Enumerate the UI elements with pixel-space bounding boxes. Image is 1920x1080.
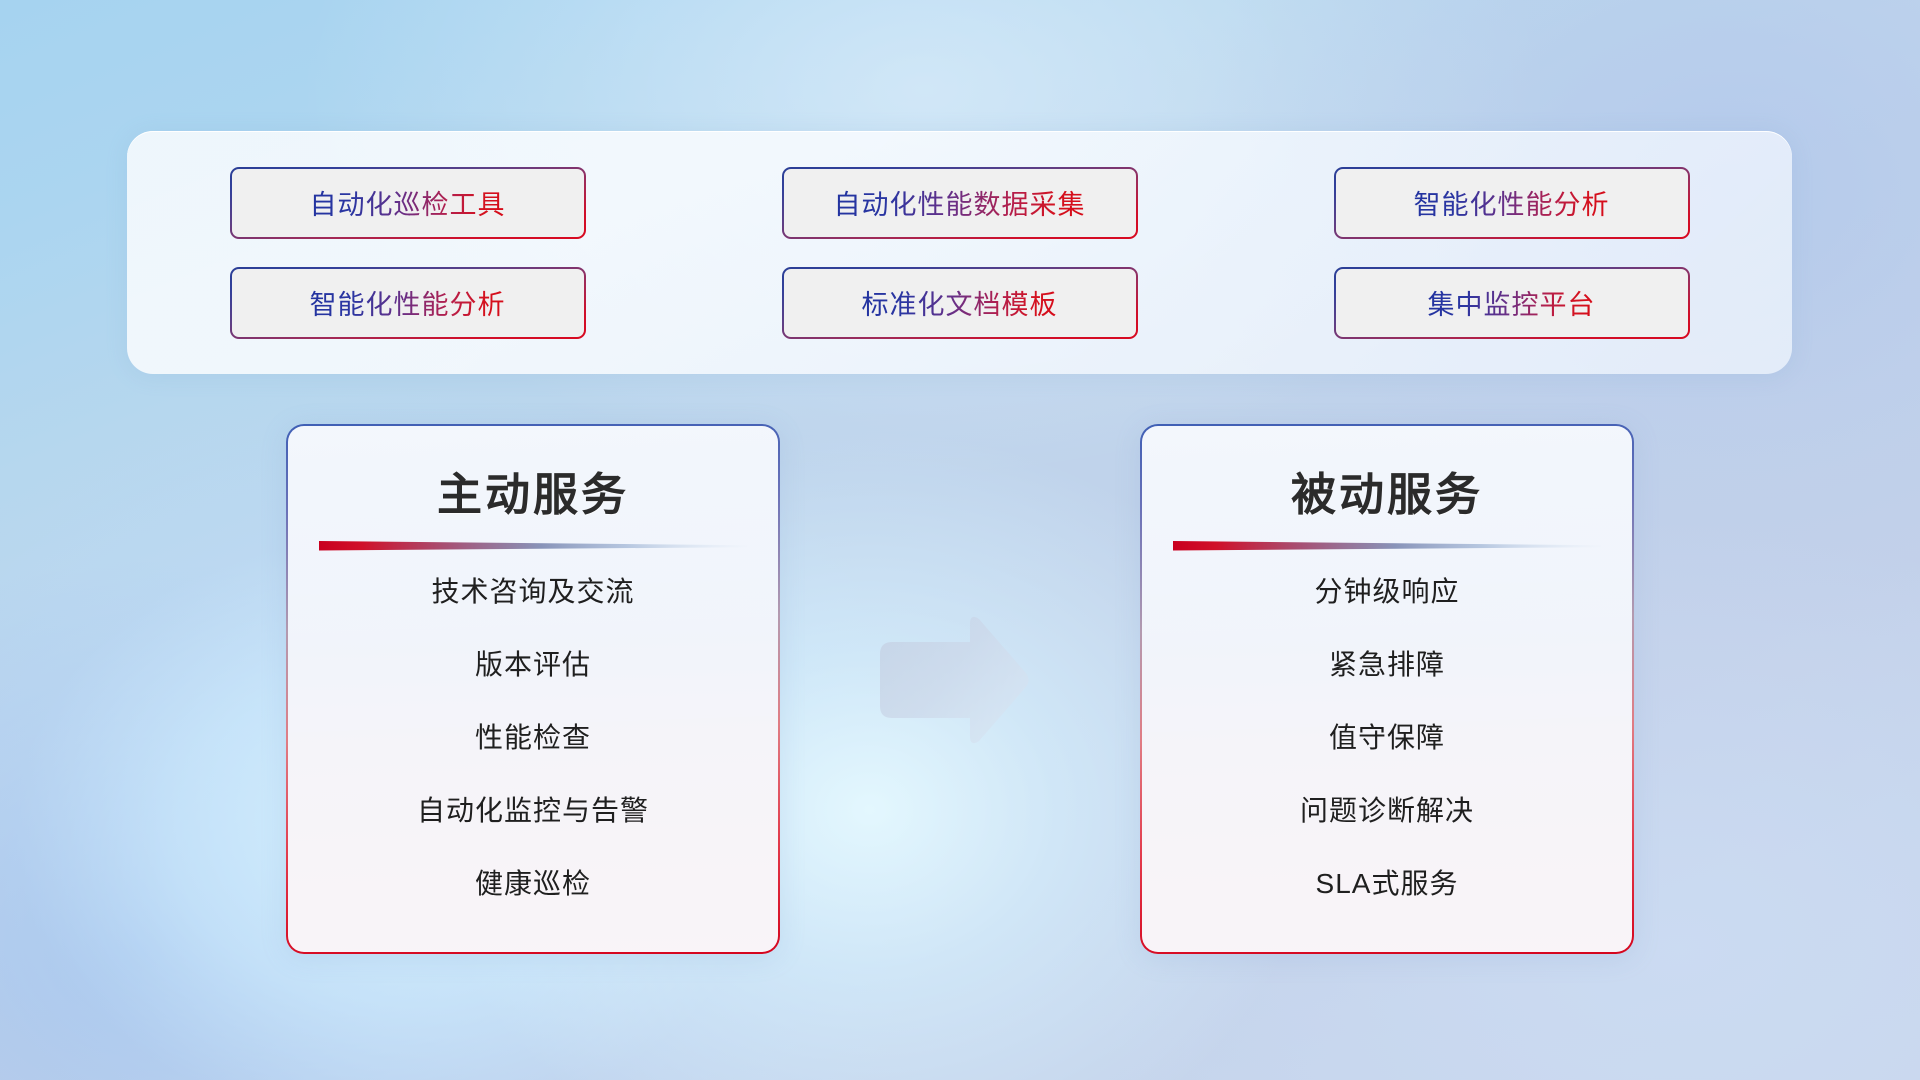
service-card-active[interactable]: 主动服务 技术咨询及交流 版本评估 <box>286 424 780 954</box>
capability-chip-body: 集中监控平台 <box>1336 269 1688 337</box>
service-card-title: 主动服务 <box>437 458 629 523</box>
capability-chip[interactable]: 智能化性能分析 <box>1334 167 1690 239</box>
capability-chip[interactable]: 智能化性能分析 <box>230 267 586 339</box>
capability-chip-body: 自动化性能数据采集 <box>784 169 1136 237</box>
service-item: 值守保障 <box>1329 724 1445 752</box>
service-item: SLA式服务 <box>1316 870 1459 898</box>
capability-chip[interactable]: 集中监控平台 <box>1334 267 1690 339</box>
capability-chip-body: 智能化性能分析 <box>1336 169 1688 237</box>
service-item-list: 分钟级响应 紧急排障 值守保障 问题诊断解决 SLA式服务 <box>1142 578 1632 898</box>
capability-chip-label: 集中监控平台 <box>1428 283 1596 322</box>
service-item: 自动化监控与告警 <box>417 797 649 825</box>
capability-chip-grid: 自动化巡检工具 自动化性能数据采集 智能化性能分析 智能化性能分析 <box>230 167 1690 339</box>
service-item: 问题诊断解决 <box>1300 797 1474 825</box>
service-item: 健康巡检 <box>475 870 591 898</box>
diagram-canvas: 自动化巡检工具 自动化性能数据采集 智能化性能分析 智能化性能分析 <box>0 0 1920 1080</box>
service-card-title: 被动服务 <box>1291 458 1483 523</box>
capability-chip-label: 自动化性能数据采集 <box>834 183 1086 222</box>
service-item-list: 技术咨询及交流 版本评估 性能检查 自动化监控与告警 健康巡检 <box>288 578 778 898</box>
capability-chip[interactable]: 标准化文档模板 <box>782 267 1138 339</box>
capabilities-panel: 自动化巡检工具 自动化性能数据采集 智能化性能分析 智能化性能分析 <box>127 131 1792 374</box>
capability-chip[interactable]: 自动化巡检工具 <box>230 167 586 239</box>
capability-chip-label: 智能化性能分析 <box>310 283 506 322</box>
service-card-passive[interactable]: 被动服务 分钟级响应 紧急排障 <box>1140 424 1634 954</box>
capability-chip-body: 自动化巡检工具 <box>232 169 584 237</box>
arrow-right-icon <box>872 610 1032 750</box>
capability-chip-body: 智能化性能分析 <box>232 269 584 337</box>
capability-chip-label: 智能化性能分析 <box>1414 183 1610 222</box>
capability-chip-body: 标准化文档模板 <box>784 269 1136 337</box>
service-item: 紧急排障 <box>1329 651 1445 679</box>
service-item: 性能检查 <box>475 724 591 752</box>
capability-chip-label: 标准化文档模板 <box>862 283 1058 322</box>
service-item: 分钟级响应 <box>1314 578 1459 606</box>
title-divider <box>319 539 747 552</box>
capability-chip[interactable]: 自动化性能数据采集 <box>782 167 1138 239</box>
service-item: 版本评估 <box>475 651 591 679</box>
service-item: 技术咨询及交流 <box>431 578 634 606</box>
title-divider <box>1173 539 1601 552</box>
capability-chip-label: 自动化巡检工具 <box>310 183 506 222</box>
